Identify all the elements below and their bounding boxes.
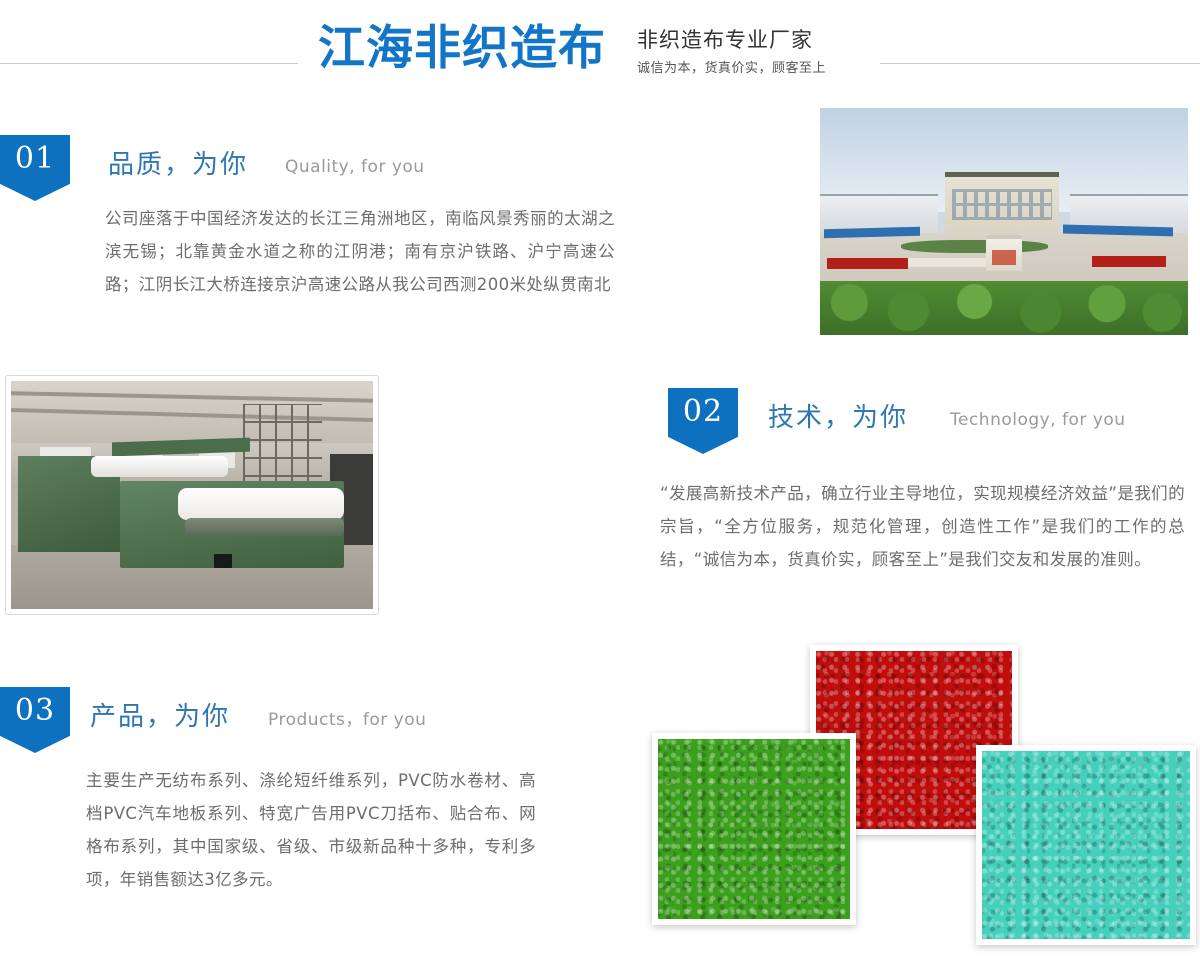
factory-sign-right <box>1092 256 1166 267</box>
pvc-swatch-cyan <box>976 745 1196 945</box>
pvc-swatch-green <box>652 733 856 925</box>
section-title-01: 品质，为你 <box>108 148 248 182</box>
machine-photo-inner <box>11 381 373 609</box>
pvc-swatch-cyan-texture <box>982 751 1190 939</box>
brand-slogan-main: 非织造布专业厂家 <box>637 26 877 54</box>
factory-gatehouse <box>986 235 1023 271</box>
brand-slogan-block: 非织造布专业厂家 诚信为本，货真价实，顾客至上 <box>637 26 877 80</box>
section-title-03: 产品，为你 <box>90 700 230 734</box>
factory-hedge <box>820 281 1188 335</box>
header-divider-right <box>880 63 1200 64</box>
header-divider-left <box>0 63 298 64</box>
section-body-01: 公司座落于中国经济发达的长江三角洲地区，南临风景秀丽的太湖之滨无锡；北靠黄金水道… <box>105 202 615 301</box>
section-badge-01: 01 <box>0 135 70 201</box>
machine-fabric-roll <box>91 456 229 477</box>
factory-exterior-photo <box>820 108 1188 335</box>
section-subtitle-02: Technology, for you <box>950 403 1126 437</box>
factory-lawn <box>901 240 1048 254</box>
factory-building-main <box>945 172 1059 233</box>
section-subtitle-03: Products，for you <box>268 703 426 737</box>
company-intro-page: 江海非织造布 非织造布专业厂家 诚信为本，货真价实，顾客至上 01 品质，为你 … <box>0 0 1200 969</box>
page-header: 江海非织造布 非织造布专业厂家 诚信为本，货真价实，顾客至上 <box>0 0 1200 100</box>
section-badge-03: 03 <box>0 687 70 753</box>
section-subtitle-01: Quality, for you <box>285 150 425 184</box>
pvc-swatch-green-texture <box>658 739 850 919</box>
section-title-02: 技术，为你 <box>768 401 908 435</box>
machine-control-port <box>214 554 232 568</box>
brand-title: 江海非织造布 <box>318 20 606 78</box>
section-badge-02: 02 <box>668 388 738 454</box>
machine-grey-roller <box>185 518 344 536</box>
machine-fabric-roll <box>178 488 345 520</box>
factory-sign-left <box>827 258 908 269</box>
nonwoven-machine-photo <box>5 375 379 615</box>
factory-wall <box>908 258 989 267</box>
section-body-03: 主要生产无纺布系列、涤纶短纤维系列，PVC防水卷材、高档PVC汽车地板系列、特宽… <box>86 764 536 896</box>
section-body-02: “发展高新技术产品，确立行业主导地位，实现规模经济效益”是我们的宗旨，“全方位服… <box>660 477 1185 576</box>
brand-slogan-sub: 诚信为本，货真价实，顾客至上 <box>637 58 877 80</box>
